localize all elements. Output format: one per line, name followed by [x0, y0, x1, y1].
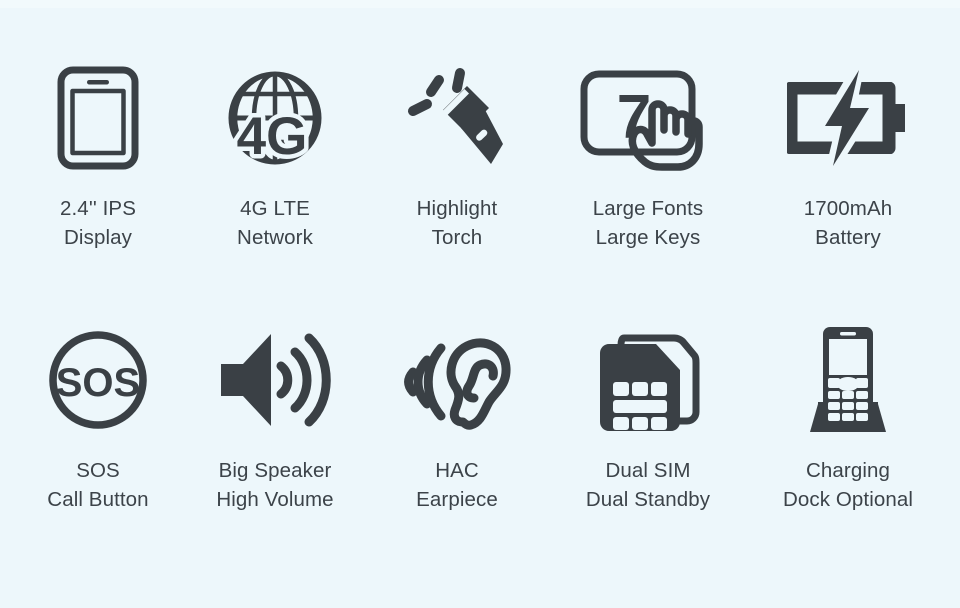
feature-label-line2: Battery	[804, 223, 892, 252]
feature-item-display: 2.4'' IPS Display	[10, 62, 186, 252]
feature-label-line1: Big Speaker	[219, 459, 332, 482]
feature-item-large-keys: 7 Large Fonts Large Keys	[550, 62, 746, 252]
feature-label-line2: Display	[60, 223, 136, 252]
feature-label-line2: Torch	[417, 223, 498, 252]
phone-dock-icon	[792, 324, 904, 436]
dual-sim-icon	[596, 324, 700, 436]
feature-label-line2: High Volume	[216, 485, 333, 514]
feature-label-line1: Dual SIM	[605, 459, 690, 482]
feature-label-line2: Large Keys	[593, 223, 704, 252]
feature-item-network: 4G	[186, 62, 364, 252]
feature-label: Large Fonts Large Keys	[593, 194, 704, 252]
feature-row-1: 2.4'' IPS Display 4G	[0, 62, 960, 277]
sos-icon-text: SOS	[56, 361, 140, 405]
feature-label: Highlight Torch	[417, 194, 498, 252]
feature-item-torch: Highlight Torch	[364, 62, 550, 252]
speaker-volume-icon	[217, 324, 333, 436]
battery-charging-icon	[787, 62, 909, 174]
feature-item-charging-dock: Charging Dock Optional	[746, 324, 950, 514]
feature-label: SOS Call Button	[47, 456, 148, 514]
feature-item-battery: 1700mAh Battery	[746, 62, 950, 252]
feature-row-2: SOS SOS Call Button	[0, 324, 960, 539]
feature-label-line2: Call Button	[47, 485, 148, 514]
feature-label-line1: 1700mAh	[804, 197, 892, 220]
feature-item-dual-sim: Dual SIM Dual Standby	[550, 324, 746, 514]
feature-label-line1: HAC	[435, 459, 479, 482]
feature-item-speaker: Big Speaker High Volume	[186, 324, 364, 514]
feature-label: Big Speaker High Volume	[216, 456, 333, 514]
feature-label-line2: Earpiece	[416, 485, 498, 514]
feature-item-hac: HAC Earpiece	[364, 324, 550, 514]
feature-label: Charging Dock Optional	[783, 456, 913, 514]
sos-circle-icon: SOS	[46, 324, 150, 436]
phone-screen-icon	[56, 62, 140, 174]
globe-4g-icon: 4G	[223, 62, 327, 174]
feature-grid: 2.4'' IPS Display 4G	[0, 0, 960, 608]
globe-icon-text: 4G	[237, 107, 308, 166]
feature-label-line2: Network	[237, 223, 313, 252]
feature-label-line1: SOS	[76, 459, 120, 482]
feature-label-line1: 4G LTE	[240, 197, 310, 220]
feature-item-sos: SOS SOS Call Button	[10, 324, 186, 514]
feature-label: 1700mAh Battery	[804, 194, 892, 252]
feature-label: 2.4'' IPS Display	[60, 194, 136, 252]
feature-grid-page: 2.4'' IPS Display 4G	[0, 0, 960, 608]
feature-label-line2: Dock Optional	[783, 485, 913, 514]
feature-label-line1: Large Fonts	[593, 197, 704, 220]
flashlight-icon	[405, 62, 509, 174]
feature-label-line1: Charging	[806, 459, 890, 482]
feature-label: Dual SIM Dual Standby	[586, 456, 710, 514]
ear-hearing-icon	[401, 324, 513, 436]
feature-label-line1: 2.4'' IPS	[60, 197, 136, 220]
feature-label: HAC Earpiece	[416, 456, 498, 514]
feature-label: 4G LTE Network	[237, 194, 313, 252]
feature-label-line1: Highlight	[417, 197, 498, 220]
large-keys-touch-icon: 7	[578, 62, 718, 174]
feature-label-line2: Dual Standby	[586, 485, 710, 514]
